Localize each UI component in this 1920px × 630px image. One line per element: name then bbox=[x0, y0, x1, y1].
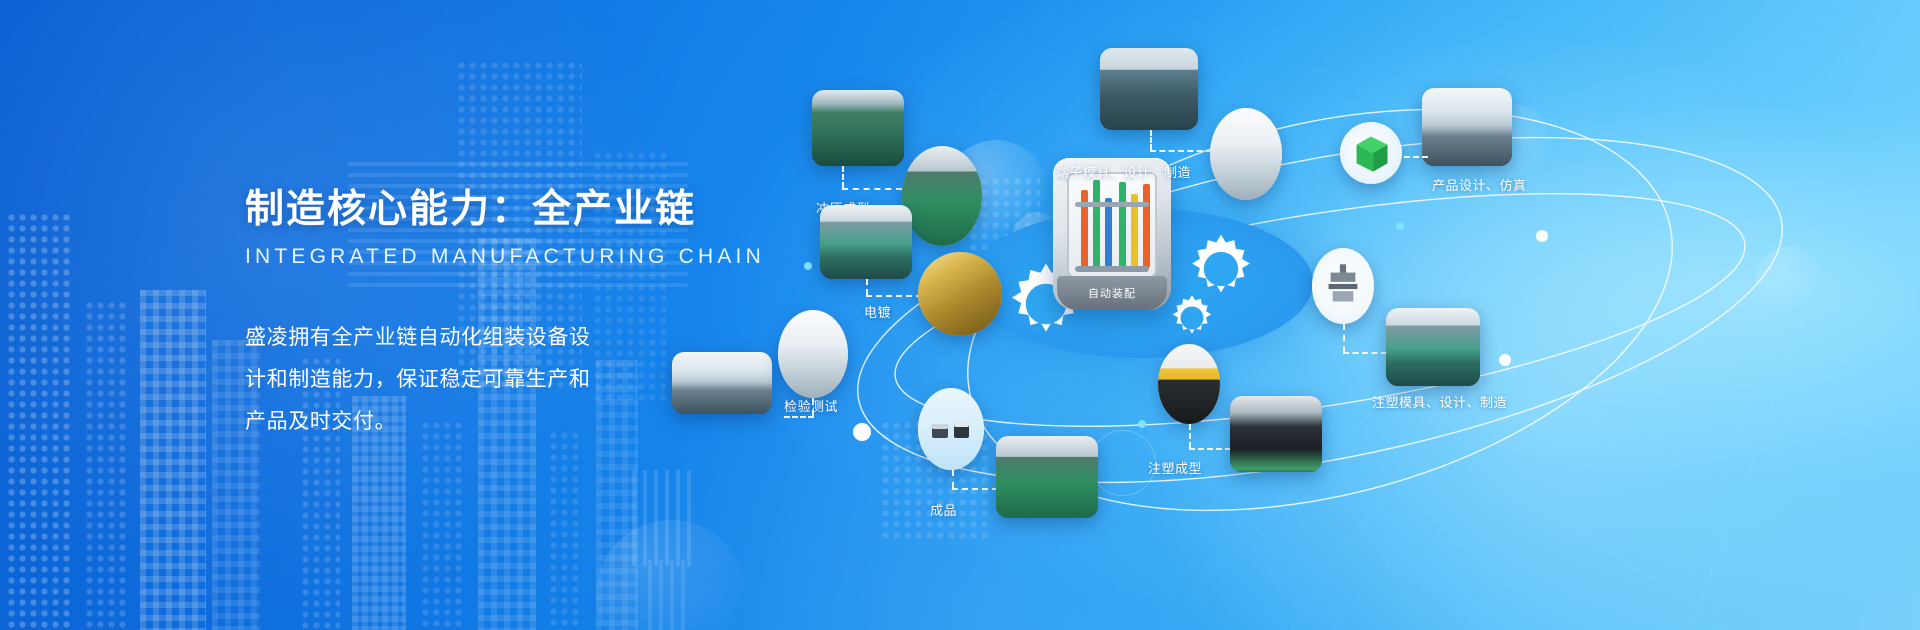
node-icon-circle[interactable] bbox=[1312, 248, 1374, 324]
node-icon-circle[interactable] bbox=[778, 310, 848, 398]
machine-column bbox=[1093, 180, 1100, 268]
photo-press-machine bbox=[902, 146, 982, 246]
connector-vertical bbox=[842, 166, 844, 188]
bar-cluster-right-1 bbox=[632, 470, 692, 566]
photo-design-office bbox=[1422, 88, 1512, 166]
photo-plating-line bbox=[820, 205, 912, 279]
photo-stamping-press bbox=[812, 90, 904, 166]
node-label: 产品设计、仿真 bbox=[1432, 175, 1527, 194]
page-title: 制造核心能力：全产业链 bbox=[245, 178, 805, 234]
node-icon-circle[interactable] bbox=[918, 388, 984, 470]
gear-small-bottom bbox=[1166, 292, 1218, 344]
photo-molded-parts bbox=[1230, 396, 1322, 472]
connector-horizontal bbox=[952, 488, 998, 490]
photo-injection-line bbox=[1386, 308, 1480, 386]
machine-column bbox=[1119, 182, 1126, 268]
photo-plated-strip bbox=[918, 252, 1002, 336]
node-icon-circle[interactable] bbox=[1210, 108, 1282, 200]
square-column-1 bbox=[140, 290, 206, 630]
machine-window bbox=[1067, 172, 1157, 278]
bar-cluster-right-2 bbox=[648, 560, 692, 630]
center-label: 自动装配 bbox=[1053, 285, 1171, 301]
node-thumbnail[interactable] bbox=[812, 90, 904, 166]
connector-part-icon bbox=[918, 388, 984, 470]
node-thumbnail[interactable] bbox=[672, 352, 772, 414]
photo-inspection-lab bbox=[672, 352, 772, 414]
node-icon-circle[interactable] bbox=[918, 252, 1002, 336]
connector-horizontal bbox=[1189, 448, 1231, 450]
node-label: 成品 bbox=[930, 500, 957, 519]
connector-vertical bbox=[952, 470, 954, 488]
connector-horizontal bbox=[866, 295, 922, 297]
mold-tool-icon bbox=[1312, 248, 1374, 324]
node-thumbnail[interactable] bbox=[1100, 48, 1198, 130]
dot-column-1 bbox=[6, 212, 72, 630]
photo-test-fixture bbox=[778, 310, 848, 398]
node-thumbnail[interactable] bbox=[1230, 396, 1322, 472]
connector-vertical bbox=[1150, 130, 1152, 150]
node-icon-circle[interactable] bbox=[1158, 344, 1220, 424]
node-thumbnail[interactable] bbox=[1422, 88, 1512, 166]
connector-horizontal bbox=[1343, 352, 1387, 354]
photo-terminal-workshop bbox=[1100, 48, 1198, 130]
node-thumbnail[interactable] bbox=[996, 436, 1098, 518]
dot-column-5 bbox=[548, 430, 584, 630]
manufacturing-chain-banner: 制造核心能力：全产业链 INTEGRATED MANUFACTURING CHA… bbox=[0, 0, 1920, 630]
node-label: 电镀 bbox=[864, 302, 891, 321]
node-icon-circle[interactable] bbox=[1340, 122, 1402, 184]
dot-column-4 bbox=[420, 420, 464, 630]
node-label: 检验测试 bbox=[784, 396, 838, 415]
connector-vertical bbox=[1189, 424, 1191, 448]
page-subtitle: INTEGRATED MANUFACTURING CHAIN bbox=[245, 245, 805, 269]
cad-green-box-icon bbox=[1340, 122, 1402, 184]
node-thumbnail[interactable] bbox=[1386, 308, 1480, 386]
connector-horizontal bbox=[1404, 156, 1428, 158]
bubble-4 bbox=[596, 520, 746, 630]
connector-horizontal bbox=[842, 188, 902, 190]
machine-column bbox=[1105, 198, 1112, 268]
node-icon-circle[interactable] bbox=[902, 146, 982, 246]
node-thumbnail[interactable] bbox=[820, 205, 912, 279]
dot-column-2 bbox=[84, 300, 128, 630]
node-label: 端子模具、设计、制造 bbox=[1056, 162, 1191, 181]
photo-terminal-mold bbox=[1210, 108, 1282, 200]
node-label: 注塑模具、设计、制造 bbox=[1372, 392, 1507, 411]
connector-horizontal bbox=[1150, 150, 1212, 152]
node-label: 注塑成型 bbox=[1148, 458, 1202, 477]
machine-rail bbox=[1075, 202, 1149, 207]
connector-horizontal bbox=[784, 416, 814, 418]
machine-rail bbox=[1075, 266, 1149, 272]
connector-vertical bbox=[866, 279, 868, 295]
description-text: 盛凌拥有全产业链自动化组装设备设计和制造能力，保证稳定可靠生产和产品及时交付。 bbox=[245, 317, 605, 443]
photo-assembly-line bbox=[996, 436, 1098, 518]
photo-injection-machine bbox=[1158, 344, 1220, 424]
connector-vertical bbox=[1343, 324, 1345, 352]
machine-column bbox=[1143, 184, 1150, 268]
